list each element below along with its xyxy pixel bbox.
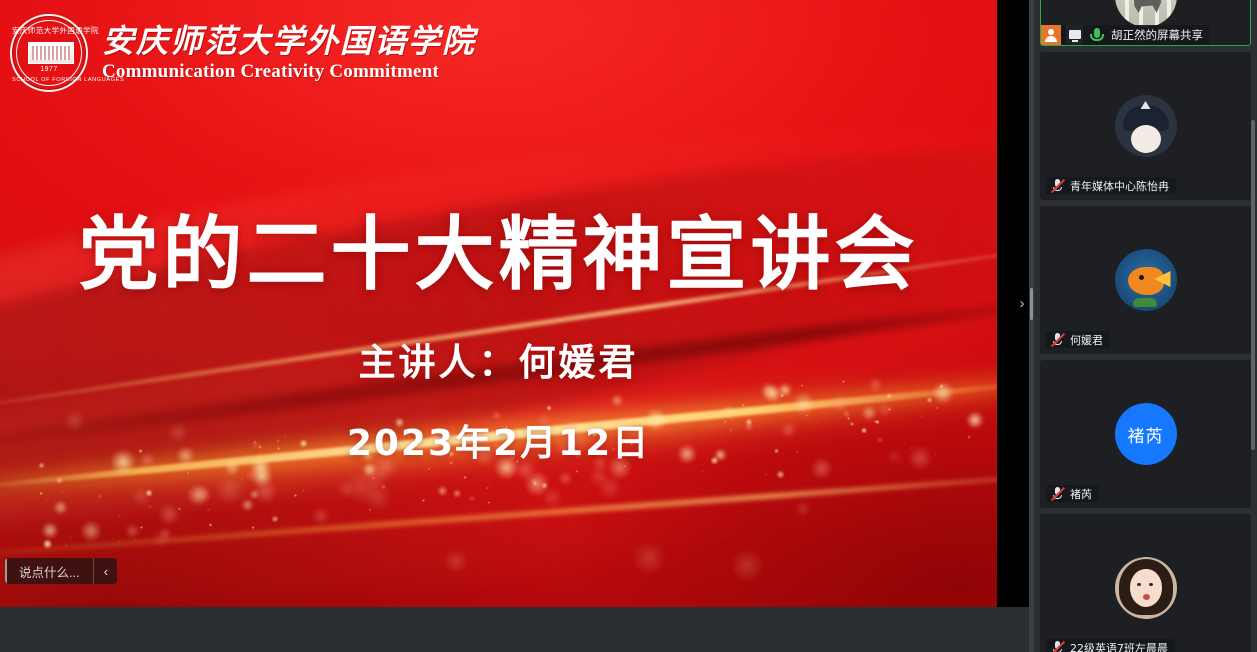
slide-main-title: 党的二十大精神宣讲会	[0, 190, 997, 306]
filmstrip-scrollbar[interactable]	[1252, 0, 1256, 652]
avatar-initials: 褚芮	[1115, 403, 1177, 465]
participant-name: 胡正然的屏幕共享	[1111, 27, 1203, 43]
participant-tile-screenshare[interactable]: 胡正然的屏幕共享	[1040, 0, 1251, 46]
shared-screen-stage[interactable]: 安庆师范大学外国语学院 1977 SCHOOL OF FOREIGN LANGU…	[0, 0, 1029, 607]
participant-name: 褚芮	[1070, 486, 1092, 502]
mic-off-icon	[1050, 178, 1065, 193]
zoom-meeting-window: 安庆师范大学外国语学院 1977 SCHOOL OF FOREIGN LANGU…	[0, 0, 1257, 652]
screenshare-thumbnail	[1115, 0, 1177, 27]
tile-video-area	[1040, 514, 1251, 652]
mic-off-icon	[1050, 486, 1065, 501]
screen-share-icon	[1066, 25, 1083, 45]
slide-speaker-line: 主讲人：何媛君	[0, 332, 997, 386]
tile-label: 22级英语7班左晨晨	[1046, 639, 1175, 652]
avatar	[1115, 557, 1177, 619]
participant-filmstrip[interactable]: 胡正然的屏幕共享 青年媒体中心陈怡冉	[1034, 0, 1257, 652]
chevron-right-icon[interactable]: ›	[1014, 292, 1029, 316]
mic-on-icon	[1088, 25, 1106, 45]
avatar	[1115, 95, 1177, 157]
slide-title-block: 党的二十大精神宣讲会 主讲人：何媛君 2023年2月12日	[0, 0, 997, 466]
participant-name: 22级英语7班左晨晨	[1070, 640, 1168, 652]
tile-label: 褚芮	[1046, 485, 1099, 502]
tile-label: 胡正然的屏幕共享	[1041, 25, 1209, 45]
chevron-left-icon[interactable]: ‹	[93, 558, 117, 584]
participant-tile[interactable]: 青年媒体中心陈怡冉	[1040, 52, 1251, 200]
participant-tile[interactable]: 22级英语7班左晨晨	[1040, 514, 1251, 652]
avatar	[1115, 249, 1177, 311]
participant-tile[interactable]: 何媛君	[1040, 206, 1251, 354]
participant-name: 青年媒体中心陈怡冉	[1070, 178, 1169, 194]
presentation-slide: 安庆师范大学外国语学院 1977 SCHOOL OF FOREIGN LANGU…	[0, 0, 997, 607]
host-person-icon	[1041, 25, 1061, 45]
chat-bar[interactable]: 说点什么... ‹	[5, 558, 117, 584]
participant-name: 何媛君	[1070, 332, 1103, 348]
participant-tile[interactable]: 褚芮 褚芮	[1040, 360, 1251, 508]
slide-date-line: 2023年2月12日	[0, 414, 997, 466]
mic-off-icon	[1050, 640, 1065, 652]
filmstrip-scrollbar-thumb[interactable]	[1251, 120, 1255, 450]
panel-splitter-grip[interactable]	[1030, 288, 1033, 320]
chat-input[interactable]: 说点什么...	[5, 558, 93, 584]
tile-label: 青年媒体中心陈怡冉	[1046, 177, 1176, 194]
mic-off-icon	[1050, 332, 1065, 347]
tile-label: 何媛君	[1046, 331, 1110, 348]
